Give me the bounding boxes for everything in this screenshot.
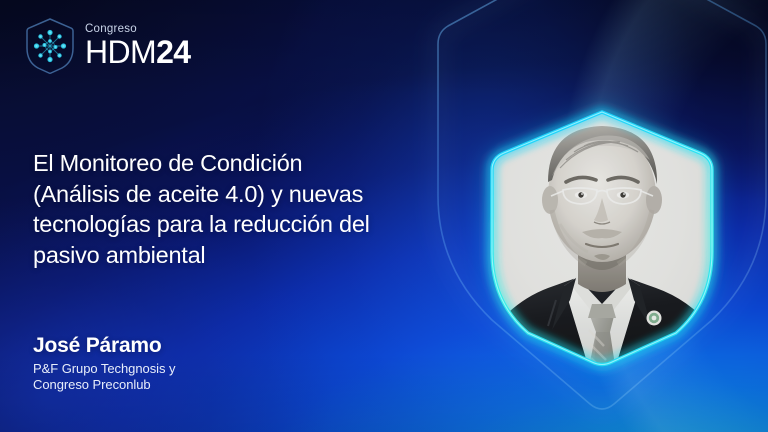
speaker-affiliation-line-2: Congreso Preconlub [33, 377, 373, 393]
talk-title-line-2: (Análisis de aceite 4.0) y nuevas [33, 179, 413, 210]
speaker-slide: Congreso HDM24 El Monitoreo de Condición… [0, 0, 768, 432]
speaker-name: José Páramo [33, 334, 373, 358]
speaker-affiliation-line-1: P&F Grupo Techgnosis y [33, 361, 373, 377]
talk-title-line-4: pasivo ambiental [33, 240, 413, 271]
talk-title-line-3: tecnologías para la reducción del [33, 209, 413, 240]
brand-name-bold: 24 [156, 34, 190, 70]
speaker-info: José Páramo P&F Grupo Techgnosis y Congr… [33, 334, 373, 393]
brand-logo[interactable]: Congreso HDM24 [24, 16, 190, 76]
shield-network-icon [24, 16, 76, 76]
talk-title: El Monitoreo de Condición (Análisis de a… [33, 148, 413, 270]
brand-name: HDM24 [85, 36, 190, 68]
brand-wordmark: Congreso HDM24 [85, 24, 190, 69]
talk-title-line-1: El Monitoreo de Condición [33, 148, 413, 179]
brand-name-light: HDM [85, 34, 156, 70]
